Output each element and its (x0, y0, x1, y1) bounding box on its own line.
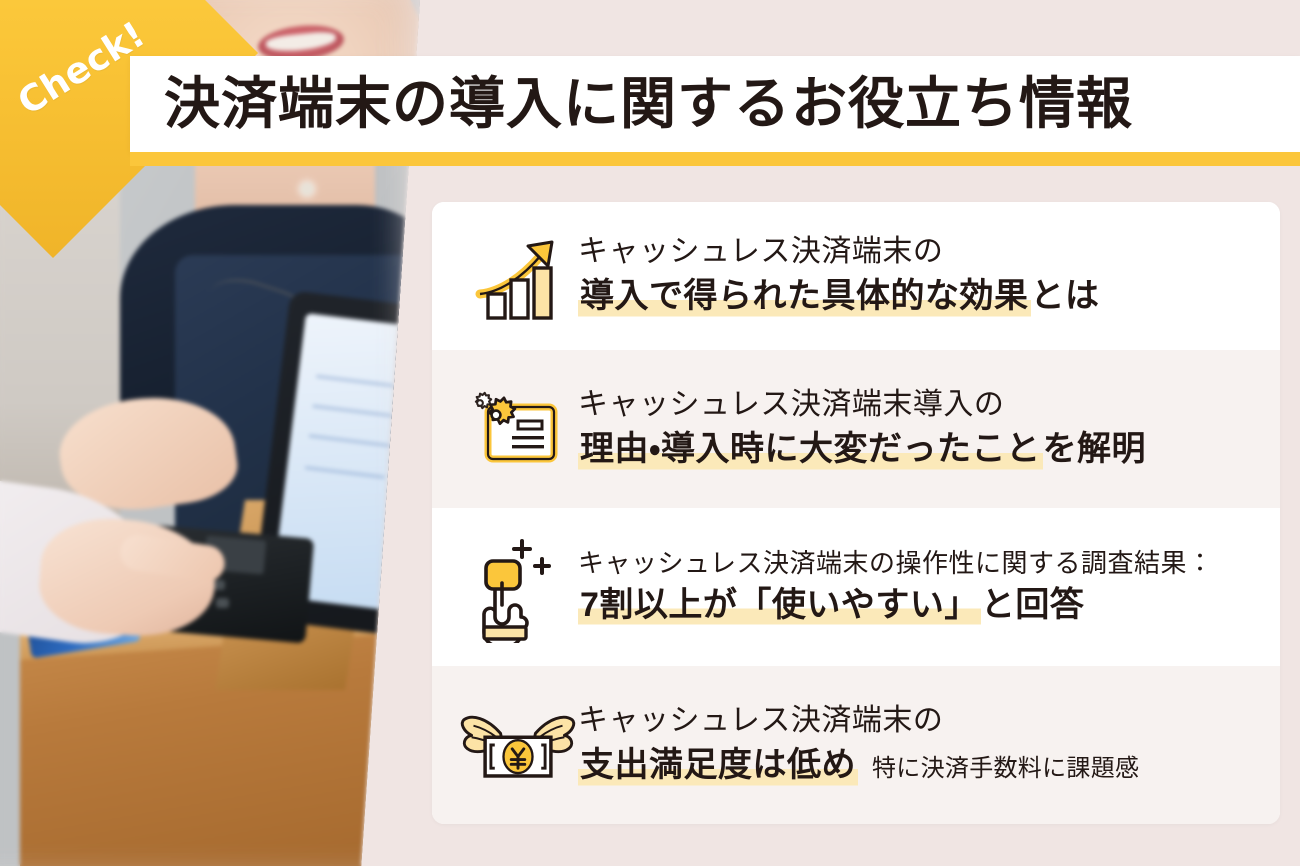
list-item-tail: とは (1031, 275, 1100, 318)
list-item-line-top: キャッシュレス決済端末の操作性に関する調査結果： (578, 548, 1254, 580)
list-item-note: 特に決済手数料に課題感 (872, 754, 1139, 784)
list-item[interactable]: キャッシュレス決済端末の 支出満足度は低め特に決済手数料に課題感 (432, 666, 1280, 824)
list-item-line-bottom: 導入で得られた具体的な効果とは (578, 275, 1254, 318)
page-title-box: 決済端末の導入に関するお役立ち情報 (130, 56, 1300, 152)
list-item[interactable]: キャッシュレス決済端末の 導入で得られた具体的な効果とは (432, 202, 1280, 350)
title-underline-bar (130, 152, 1300, 166)
list-item-line-bottom: 理由・導入時に大変だったことを解明 (578, 428, 1254, 471)
page-title: 決済端末の導入に関するお役立ち情報 (164, 76, 1133, 132)
winged-money-icon (458, 699, 578, 791)
list-item-line-top: キャッシュレス決済端末の (578, 234, 1254, 271)
list-item-highlight: 7割以上が「使いやすい」 (578, 584, 981, 627)
list-item-tail: と回答 (981, 584, 1085, 627)
hand-tap-button-icon (458, 531, 578, 643)
list-item-text: キャッシュレス決済端末の 導入で得られた具体的な効果とは (578, 234, 1254, 317)
list-item[interactable]: キャッシュレス決済端末導入の 理由・導入時に大変だったことを解明 (432, 350, 1280, 508)
bar-chart-up-icon (458, 228, 578, 324)
list-item-highlight: 導入で得られた具体的な効果 (578, 275, 1031, 318)
list-item-line-bottom: 7割以上が「使いやすい」と回答 (578, 584, 1254, 627)
list-item-highlight: 支出満足度は低め (578, 744, 858, 787)
list-item-line-top: キャッシュレス決済端末導入の (578, 387, 1254, 424)
info-list-card: キャッシュレス決済端末の 導入で得られた具体的な効果とは (432, 202, 1280, 824)
list-item-text: キャッシュレス決済端末の操作性に関する調査結果： 7割以上が「使いやすい」と回答 (578, 548, 1254, 626)
list-item-line-top: キャッシュレス決済端末の (578, 703, 1254, 740)
list-item-text: キャッシュレス決済端末導入の 理由・導入時に大変だったことを解明 (578, 387, 1254, 470)
list-item-tail: を解明 (1043, 428, 1147, 471)
list-item-line-bottom: 支出満足度は低め特に決済手数料に課題感 (578, 744, 1254, 787)
list-item-text: キャッシュレス決済端末の 支出満足度は低め特に決済手数料に課題感 (578, 703, 1254, 786)
list-item[interactable]: キャッシュレス決済端末の操作性に関する調査結果： 7割以上が「使いやすい」と回答 (432, 508, 1280, 666)
infographic-canvas: Check! 決済端末の導入に関するお役立ち情報 キャッシュレス決済端末の (0, 0, 1300, 866)
document-gear-icon (458, 381, 578, 477)
list-item-highlight: 理由・導入時に大変だったこと (578, 428, 1043, 471)
